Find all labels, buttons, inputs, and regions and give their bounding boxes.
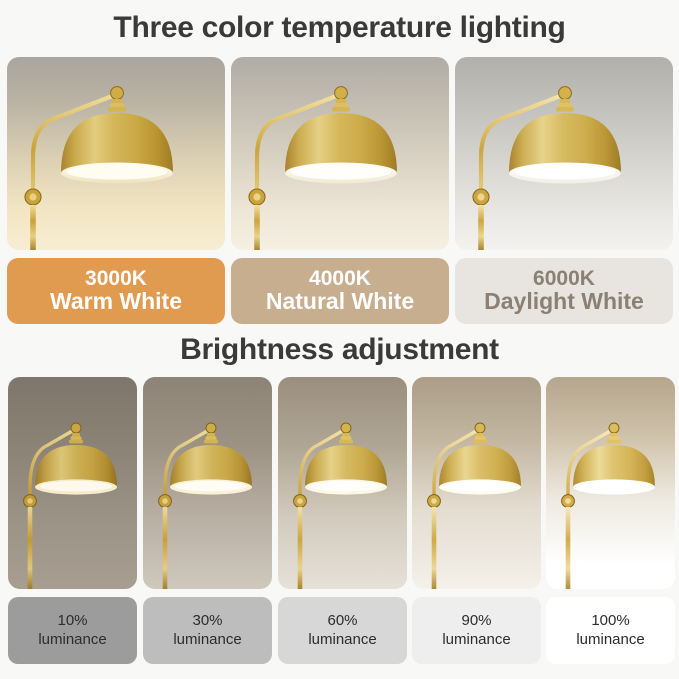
- brightness-unit: luminance: [38, 631, 106, 649]
- brightness-unit: luminance: [308, 631, 376, 649]
- kelvin-name: Natural White: [266, 290, 414, 314]
- brightness-unit: luminance: [576, 631, 644, 649]
- color-temperature-photo-4000k: [231, 57, 449, 250]
- brightness-label-100: 100% luminance: [546, 597, 675, 664]
- color-temperature-heading: Three color temperature lighting: [0, 8, 679, 48]
- brightness-gallery: [0, 377, 679, 589]
- color-temperature-label-4000k: 4000K Natural White: [231, 258, 449, 324]
- brightness-photo-30: [143, 377, 272, 589]
- brightness-percent: 90%: [461, 612, 491, 630]
- floor-lamp-icon: [546, 377, 675, 589]
- brightness-photo-60: [278, 377, 407, 589]
- brightness-label-30: 30% luminance: [143, 597, 272, 664]
- color-temperature-gallery: [0, 57, 679, 250]
- floor-lamp-icon: [8, 377, 137, 589]
- kelvin-value: 4000K: [309, 268, 371, 290]
- floor-lamp-icon: [143, 377, 272, 589]
- product-infographic: Three color temperature lighting: [0, 0, 679, 679]
- kelvin-value: 6000K: [533, 268, 595, 290]
- floor-lamp-icon: [278, 377, 407, 589]
- brightness-heading: Brightness adjustment: [0, 330, 679, 370]
- color-temperature-label-3000k: 3000K Warm White: [7, 258, 225, 324]
- kelvin-name: Warm White: [50, 290, 182, 314]
- brightness-percent: 30%: [192, 612, 222, 630]
- brightness-unit: luminance: [442, 631, 510, 649]
- brightness-label-90: 90% luminance: [412, 597, 541, 664]
- floor-lamp-icon: [7, 57, 225, 250]
- brightness-label-10: 10% luminance: [8, 597, 137, 664]
- brightness-percent: 60%: [327, 612, 357, 630]
- brightness-photo-90: [412, 377, 541, 589]
- color-temperature-photo-3000k: [7, 57, 225, 250]
- floor-lamp-icon: [231, 57, 449, 250]
- brightness-label-60: 60% luminance: [278, 597, 407, 664]
- color-temperature-label-6000k: 6000K Daylight White: [455, 258, 673, 324]
- color-temperature-photo-6000k: [455, 57, 673, 250]
- kelvin-name: Daylight White: [484, 290, 644, 314]
- brightness-unit: luminance: [173, 631, 241, 649]
- floor-lamp-icon: [412, 377, 541, 589]
- brightness-photo-100: [546, 377, 675, 589]
- floor-lamp-icon: [455, 57, 673, 250]
- brightness-percent: 100%: [591, 612, 629, 630]
- brightness-percent: 10%: [57, 612, 87, 630]
- kelvin-value: 3000K: [85, 268, 147, 290]
- brightness-photo-10: [8, 377, 137, 589]
